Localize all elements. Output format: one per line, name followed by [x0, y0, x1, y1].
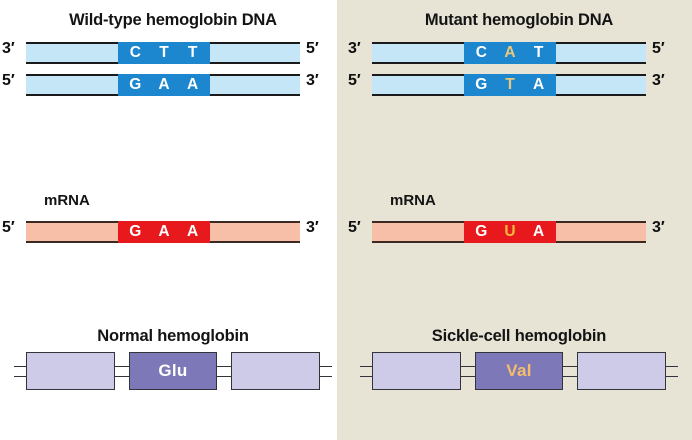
mutant-column: Mutant hemoglobin DNA 3′ 5′ C A T 5′ 3′ … — [346, 0, 692, 440]
chain-linker — [360, 366, 372, 377]
mutant-mrna-strand: G U A — [372, 221, 646, 243]
wild-type-dna-top-strand: C T T — [26, 42, 300, 64]
wild-type-mrna-strand: G A A — [26, 221, 300, 243]
chain-linker — [666, 366, 678, 377]
base: A — [179, 77, 207, 93]
amino-acid-label: Val — [506, 361, 531, 381]
base: G — [121, 224, 149, 240]
wild-type-mrna-label: mRNA — [44, 192, 90, 209]
mutant-mrna-codon: G U A — [464, 221, 556, 243]
base: T — [525, 45, 553, 61]
base: A — [525, 224, 553, 240]
mutant-mrna-left-end: 5′ — [348, 219, 361, 237]
base: C — [121, 45, 149, 61]
base: T — [150, 45, 178, 61]
protein-segment — [372, 352, 461, 390]
amino-acid-label: Glu — [158, 361, 187, 381]
mutated-base: T — [496, 77, 524, 93]
base: C — [467, 45, 495, 61]
wild-type-column: Wild-type hemoglobin DNA 3′ 5′ C T T 5′ … — [0, 0, 346, 440]
base: G — [121, 77, 149, 93]
chain-linker — [461, 366, 475, 377]
mutant-dna-title: Mutant hemoglobin DNA — [346, 11, 692, 30]
wild-type-dna-title: Wild-type hemoglobin DNA — [0, 11, 346, 30]
mutant-dna-bottom-strand: G T A — [372, 74, 646, 96]
mutant-dna-top-right-end: 5′ — [652, 40, 665, 58]
mutated-base: U — [496, 224, 524, 240]
protein-segment — [26, 352, 115, 390]
mutant-mrna-label: mRNA — [390, 192, 436, 209]
mutant-mrna-right-end: 3′ — [652, 219, 665, 237]
wild-type-dna-bottom-codon: G A A — [118, 74, 210, 96]
mutant-dna-bottom-left-end: 5′ — [348, 72, 361, 90]
wild-type-dna-top-left-end: 3′ — [2, 40, 15, 58]
chain-linker — [115, 366, 129, 377]
wild-type-dna-top-codon: C T T — [118, 42, 210, 64]
wild-type-mrna-left-end: 5′ — [2, 219, 15, 237]
chain-linker — [217, 366, 231, 377]
wild-type-dna-top-right-end: 5′ — [306, 40, 319, 58]
base: G — [467, 77, 495, 93]
amino-acid-residue: Val — [475, 352, 564, 390]
chain-linker — [320, 366, 332, 377]
wild-type-mrna-right-end: 3′ — [306, 219, 319, 237]
mutant-dna-bottom-codon: G T A — [464, 74, 556, 96]
base: A — [150, 224, 178, 240]
wild-type-dna-bottom-strand: G A A — [26, 74, 300, 96]
sickle-cell-mutation-diagram: Wild-type hemoglobin DNA 3′ 5′ C T T 5′ … — [0, 0, 692, 440]
mutant-dna-top-codon: C A T — [464, 42, 556, 64]
sickle-cell-hemoglobin-chain: Val — [360, 352, 678, 390]
base: T — [179, 45, 207, 61]
sickle-cell-hemoglobin-title: Sickle-cell hemoglobin — [346, 327, 692, 346]
amino-acid-residue: Glu — [129, 352, 218, 390]
wild-type-dna-bottom-left-end: 5′ — [2, 72, 15, 90]
normal-hemoglobin-title: Normal hemoglobin — [0, 327, 346, 346]
mutated-base: A — [496, 45, 524, 61]
chain-linker — [563, 366, 577, 377]
protein-segment — [231, 352, 320, 390]
base: A — [525, 77, 553, 93]
base: A — [150, 77, 178, 93]
chain-linker — [14, 366, 26, 377]
normal-hemoglobin-chain: Glu — [14, 352, 332, 390]
mutant-dna-bottom-right-end: 3′ — [652, 72, 665, 90]
mutant-dna-top-left-end: 3′ — [348, 40, 361, 58]
wild-type-mrna-codon: G A A — [118, 221, 210, 243]
base: A — [179, 224, 207, 240]
protein-segment — [577, 352, 666, 390]
base: G — [467, 224, 495, 240]
mutant-dna-top-strand: C A T — [372, 42, 646, 64]
wild-type-dna-bottom-right-end: 3′ — [306, 72, 319, 90]
